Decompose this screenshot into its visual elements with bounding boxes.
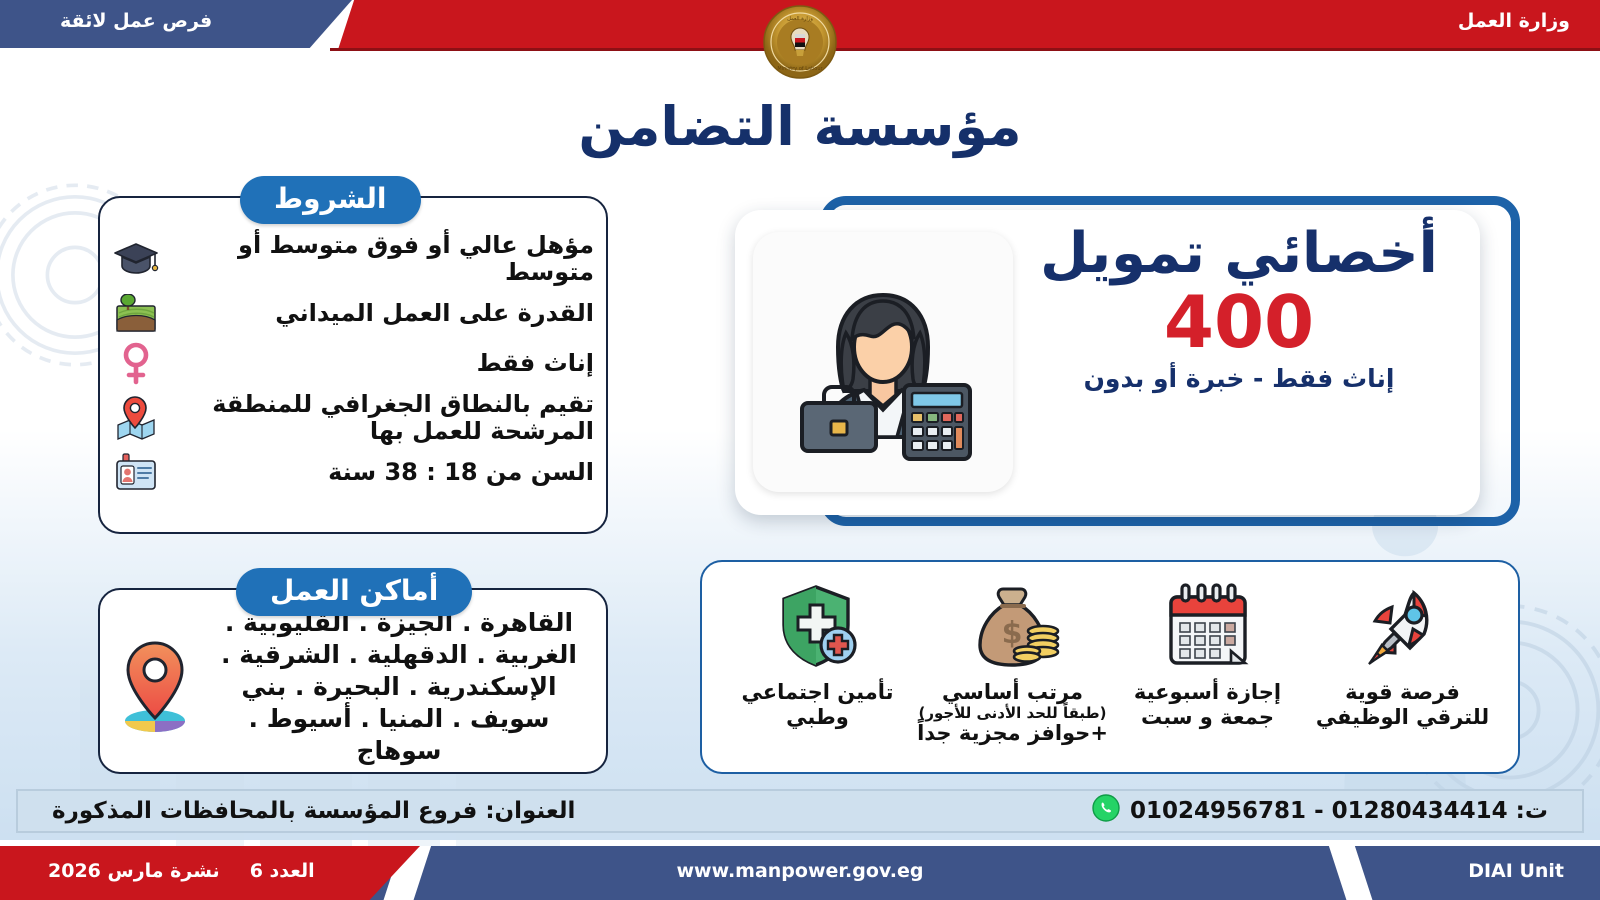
calendar-icon [1161,576,1255,678]
condition-label: تقيم بالنطاق الجغرافي للمنطقة المرشحة لل… [174,391,594,446]
benefit-label-line2: جمعة و سبت [1134,705,1281,730]
header-left-label: فرص عمل لائقة [60,10,212,32]
benefit-item-promotion: فرصة قوية للترقي الوظيفي [1305,576,1500,762]
condition-label: القدرة على العمل الميداني [174,300,594,327]
condition-label: السن من 18 : 38 سنة [174,459,594,486]
benefit-label-sub: (طبقاً للحد الأدنى للأجور) [917,705,1108,722]
benefit-item-insurance: تأمين اجتماعي وطبي [720,576,915,762]
condition-row: القدرة على العمل الميداني [110,291,594,337]
conditions-panel: مؤهل عالي أو فوق متوسط أو متوسط القدرة ع… [98,196,608,534]
benefit-label-line2: +حوافز مجزية جداً [917,721,1108,746]
svg-text:Ministry of Labour: Ministry of Labour [777,66,823,72]
contact-strip: ت: 01280434414 - 01024956781 العنوان: فر… [16,789,1584,833]
map-pin-icon [110,395,162,441]
footer-website[interactable]: www.manpower.gov.eg [0,860,1600,882]
benefit-label-line1: تأمين اجتماعي [742,680,894,705]
contact-phone-label: ت: 01280434414 - 01024956781 [1130,798,1548,824]
footer-unit: DIAI Unit [1468,860,1564,882]
contact-phone-group[interactable]: ت: 01280434414 - 01024956781 [1092,794,1548,828]
field-work-icon [110,291,162,337]
whatsapp-icon[interactable] [1092,794,1120,828]
businesswoman-calculator-icon [753,232,1013,492]
female-symbol-icon [110,341,162,387]
conditions-heading: الشروط [240,176,421,224]
header-right-label: وزارة العمل [1458,10,1570,32]
location-pin-icon [112,639,198,735]
condition-label: إناث فقط [174,350,594,377]
benefit-label-line1: إجازة أسبوعية [1134,680,1281,705]
condition-row: تقيم بالنطاق الجغرافي للمنطقة المرشحة لل… [110,391,594,446]
contact-address: العنوان: فروع المؤسسة بالمحافظات المذكور… [52,798,575,824]
job-title: أخصائي تمويل [1024,224,1454,284]
conditions-list: مؤهل عالي أو فوق متوسط أو متوسط القدرة ع… [110,232,594,524]
graduation-cap-icon [110,236,162,282]
locations-heading: أماكن العمل [236,568,472,616]
benefit-label-line2: للترقي الوظيفي [1316,705,1489,730]
job-note: إناث فقط - خبرة أو بدون [1024,364,1454,393]
id-card-icon [110,449,162,495]
page-title: مؤسسة التضامن [0,95,1600,158]
ministry-seal-icon: وزارة العمل Ministry of Labour [762,4,838,80]
condition-row: إناث فقط [110,341,594,387]
money-bag-icon: $ [965,576,1061,678]
locations-text: القاهرة . الجيزة . القليوبية . الغربية .… [206,607,592,767]
health-shield-icon [772,576,864,678]
benefit-item-weekend: إجازة أسبوعية جمعة و سبت [1110,576,1305,762]
condition-row: مؤهل عالي أو فوق متوسط أو متوسط [110,232,594,287]
condition-label: مؤهل عالي أو فوق متوسط أو متوسط [174,232,594,287]
benefit-label-line1: فرصة قوية [1316,680,1489,705]
job-vacancy-count: 400 [1024,286,1454,358]
svg-text:$: $ [1001,616,1022,651]
benefit-item-salary: $ مرتب أساسي (طبقاً للحد الأدنى للأجور) … [915,576,1110,762]
job-card: أخصائي تمويل 400 إناث فقط - خبرة أو بدون [735,210,1480,515]
header-red-band [330,0,1600,48]
benefit-label-line1: مرتب أساسي [917,680,1108,705]
benefits-panel: فرصة قوية للترقي الوظيفي [700,560,1520,774]
header-underline [330,48,1600,51]
condition-row: السن من 18 : 38 سنة [110,449,594,495]
benefit-label-line2: وطبي [742,705,894,730]
svg-text:وزارة العمل: وزارة العمل [787,16,813,22]
footer-band: العدد 6 نشرة مارس 2026 www.manpower.gov.… [0,846,1600,900]
rocket-icon [1357,576,1449,678]
